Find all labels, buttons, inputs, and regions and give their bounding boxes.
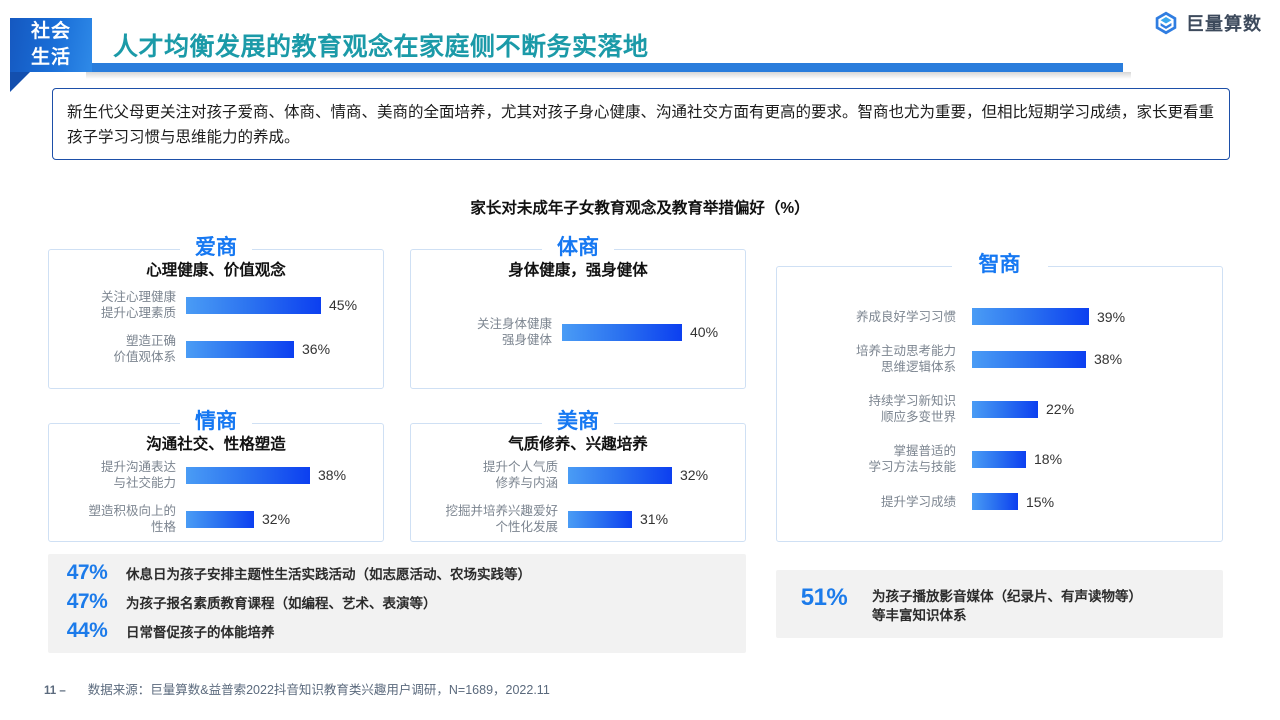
stat-row: 51% 为孩子播放影音媒体（纪录片、有声读物等） 等丰富知识体系 [776,584,1223,625]
stat-text: 日常督促孩子的体能培养 [126,619,275,642]
bar-row-value-group: 40% [562,324,718,341]
bar-row-label: 塑造积极向上的 性格 [58,503,176,535]
card-tishang-bars: 关注身体健康 强身健体 40% [424,316,736,348]
bar-row-value-group: 15% [972,493,1054,510]
card-aishang-category: 爱商 [48,231,384,261]
bar-value-label: 38% [318,467,346,483]
bar-row-value-group: 38% [186,467,346,484]
bar-row-label: 掌握普适的 学习方法与技能 [806,443,956,475]
stats-panel-right: 51% 为孩子播放影音媒体（纪录片、有声读物等） 等丰富知识体系 [776,570,1223,638]
card-aishang: 爱商 心理健康、价值观念 关注心理健康 提升心理素质 45% 塑造正确 价值观体… [48,231,384,389]
bar-fill [972,308,1089,325]
bar-row: 塑造积极向上的 性格 32% [58,503,374,535]
data-source-note: 数据来源：巨量算数&益普索2022抖音知识教育类兴趣用户调研，N=1689，20… [88,679,550,698]
card-zhishang-bars: 养成良好学习习惯 39% 培养主动思考能力 思维逻辑体系 38% 持续学习新知识… [806,308,1209,510]
bar-row: 关注身体健康 强身健体 40% [424,316,736,348]
bar-row: 提升个人气质 修养与内涵 32% [418,459,736,491]
card-qingshang-category: 情商 [48,405,384,435]
bar-row: 持续学习新知识 顺应多变世界 22% [806,393,1209,425]
card-tishang-category: 体商 [410,231,746,261]
bar-value-label: 32% [262,511,290,527]
bar-row: 培养主动思考能力 思维逻辑体系 38% [806,343,1209,375]
card-zhishang: 智商 养成良好学习习惯 39% 培养主动思考能力 思维逻辑体系 38% 持续学习… [776,248,1223,542]
bar-value-label: 18% [1034,451,1062,467]
bar-fill [972,351,1086,368]
bar-row-label: 养成良好学习习惯 [806,309,956,325]
slide-root: 社会 生活 人才均衡发展的教育观念在家庭侧不断务实落地 巨量算数 新生代父母更关… [0,0,1280,720]
bar-row: 挖掘并培养兴趣爱好 个性化发展 31% [418,503,736,535]
header-rule [86,63,1123,72]
header-rule-shadow [86,72,1131,79]
bar-row-label: 关注身体健康 强身健体 [424,316,552,348]
bar-row-label: 持续学习新知识 顺应多变世界 [806,393,956,425]
card-qingshang-bars: 提升沟通表达 与社交能力 38% 塑造积极向上的 性格 32% [58,459,374,535]
bar-row-value-group: 18% [972,451,1062,468]
stat-text: 休息日为孩子安排主题性生活实践活动（如志愿活动、农场实践等） [126,561,531,584]
card-tishang: 体商 身体健康，强身健体 关注身体健康 强身健体 40% [410,231,746,389]
bar-row-label: 培养主动思考能力 思维逻辑体系 [806,343,956,375]
stats-panel-left: 47% 休息日为孩子安排主题性生活实践活动（如志愿活动、农场实践等） 47% 为… [48,554,746,653]
footer: 11 – 数据来源：巨量算数&益普索2022抖音知识教育类兴趣用户调研，N=16… [44,679,550,698]
bar-fill [972,451,1026,468]
stat-value: 51% [776,584,872,612]
header-tab-line1: 社会 [10,19,92,45]
bar-fill [972,401,1038,418]
page-number: 11 – [44,685,66,697]
bar-row-value-group: 36% [186,341,330,358]
brand-logo: 巨量算数 [1153,10,1262,36]
card-zhishang-category: 智商 [776,248,1223,278]
bar-row-value-group: 22% [972,401,1074,418]
bar-fill [568,467,672,484]
bar-row-value-group: 32% [186,511,290,528]
bar-fill [568,511,632,528]
bar-fill [562,324,682,341]
stat-value: 47% [48,590,126,614]
bar-value-label: 15% [1026,494,1054,510]
bar-row-label: 关注心理健康 提升心理素质 [62,289,176,321]
bar-fill [186,511,254,528]
bar-value-label: 45% [329,297,357,313]
bar-row: 掌握普适的 学习方法与技能 18% [806,443,1209,475]
bar-row-label: 塑造正确 价值观体系 [62,333,176,365]
brand-logo-text: 巨量算数 [1186,10,1262,36]
stat-value: 44% [48,619,126,643]
stat-text: 为孩子播放影音媒体（纪录片、有声读物等） 等丰富知识体系 [872,584,1142,625]
card-meishang-category: 美商 [410,405,746,435]
card-qingshang-subtitle: 沟通社交、性格塑造 [48,432,384,454]
bar-row-label: 提升沟通表达 与社交能力 [58,459,176,491]
header-tab-line2: 生活 [10,45,92,71]
bar-row-label: 挖掘并培养兴趣爱好 个性化发展 [418,503,558,535]
bar-row-value-group: 45% [186,297,357,314]
card-qingshang: 情商 沟通社交、性格塑造 提升沟通表达 与社交能力 38% 塑造积极向上的 性格… [48,405,384,542]
bar-fill [972,493,1018,510]
card-aishang-bars: 关注心理健康 提升心理素质 45% 塑造正确 价值观体系 36% [62,289,374,365]
bar-value-label: 38% [1094,351,1122,367]
header-section-tab: 社会 生活 [10,18,92,72]
card-tishang-subtitle: 身体健康，强身健体 [410,258,746,280]
bar-value-label: 39% [1097,309,1125,325]
bar-row-label: 提升个人气质 修养与内涵 [418,459,558,491]
bar-row-value-group: 32% [568,467,708,484]
hexagon-diamond-icon [1153,10,1179,36]
bar-row-value-group: 39% [972,308,1125,325]
stat-row: 47% 为孩子报名素质教育课程（如编程、艺术、表演等） [48,590,746,614]
stat-text: 为孩子报名素质教育课程（如编程、艺术、表演等） [126,590,437,613]
stat-row: 47% 休息日为孩子安排主题性生活实践活动（如志愿活动、农场实践等） [48,561,746,585]
bar-row-label: 提升学习成绩 [806,494,956,510]
bar-row: 关注心理健康 提升心理素质 45% [62,289,374,321]
bar-row: 养成良好学习习惯 39% [806,308,1209,325]
card-meishang: 美商 气质修养、兴趣培养 提升个人气质 修养与内涵 32% 挖掘并培养兴趣爱好 … [410,405,746,542]
card-meishang-bars: 提升个人气质 修养与内涵 32% 挖掘并培养兴趣爱好 个性化发展 31% [418,459,736,535]
bar-value-label: 40% [690,324,718,340]
page-title: 人才均衡发展的教育观念在家庭侧不断务实落地 [113,27,649,63]
chart-title: 家长对未成年子女教育观念及教育举措偏好（%） [0,196,1280,218]
bar-value-label: 32% [680,467,708,483]
bar-fill [186,297,321,314]
header-tab-tail [10,72,30,92]
stat-row: 44% 日常督促孩子的体能培养 [48,619,746,643]
bar-row: 提升沟通表达 与社交能力 38% [58,459,374,491]
bar-row-value-group: 31% [568,511,668,528]
card-meishang-subtitle: 气质修养、兴趣培养 [410,432,746,454]
stat-value: 47% [48,561,126,585]
bar-fill [186,341,294,358]
summary-callout: 新生代父母更关注对孩子爱商、体商、情商、美商的全面培养，尤其对孩子身心健康、沟通… [52,88,1230,160]
bar-value-label: 31% [640,511,668,527]
bar-value-label: 36% [302,341,330,357]
bar-value-label: 22% [1046,401,1074,417]
bar-row: 塑造正确 价值观体系 36% [62,333,374,365]
bar-row-value-group: 38% [972,351,1122,368]
bar-fill [186,467,310,484]
bar-row: 提升学习成绩 15% [806,493,1209,510]
card-aishang-subtitle: 心理健康、价值观念 [48,258,384,280]
